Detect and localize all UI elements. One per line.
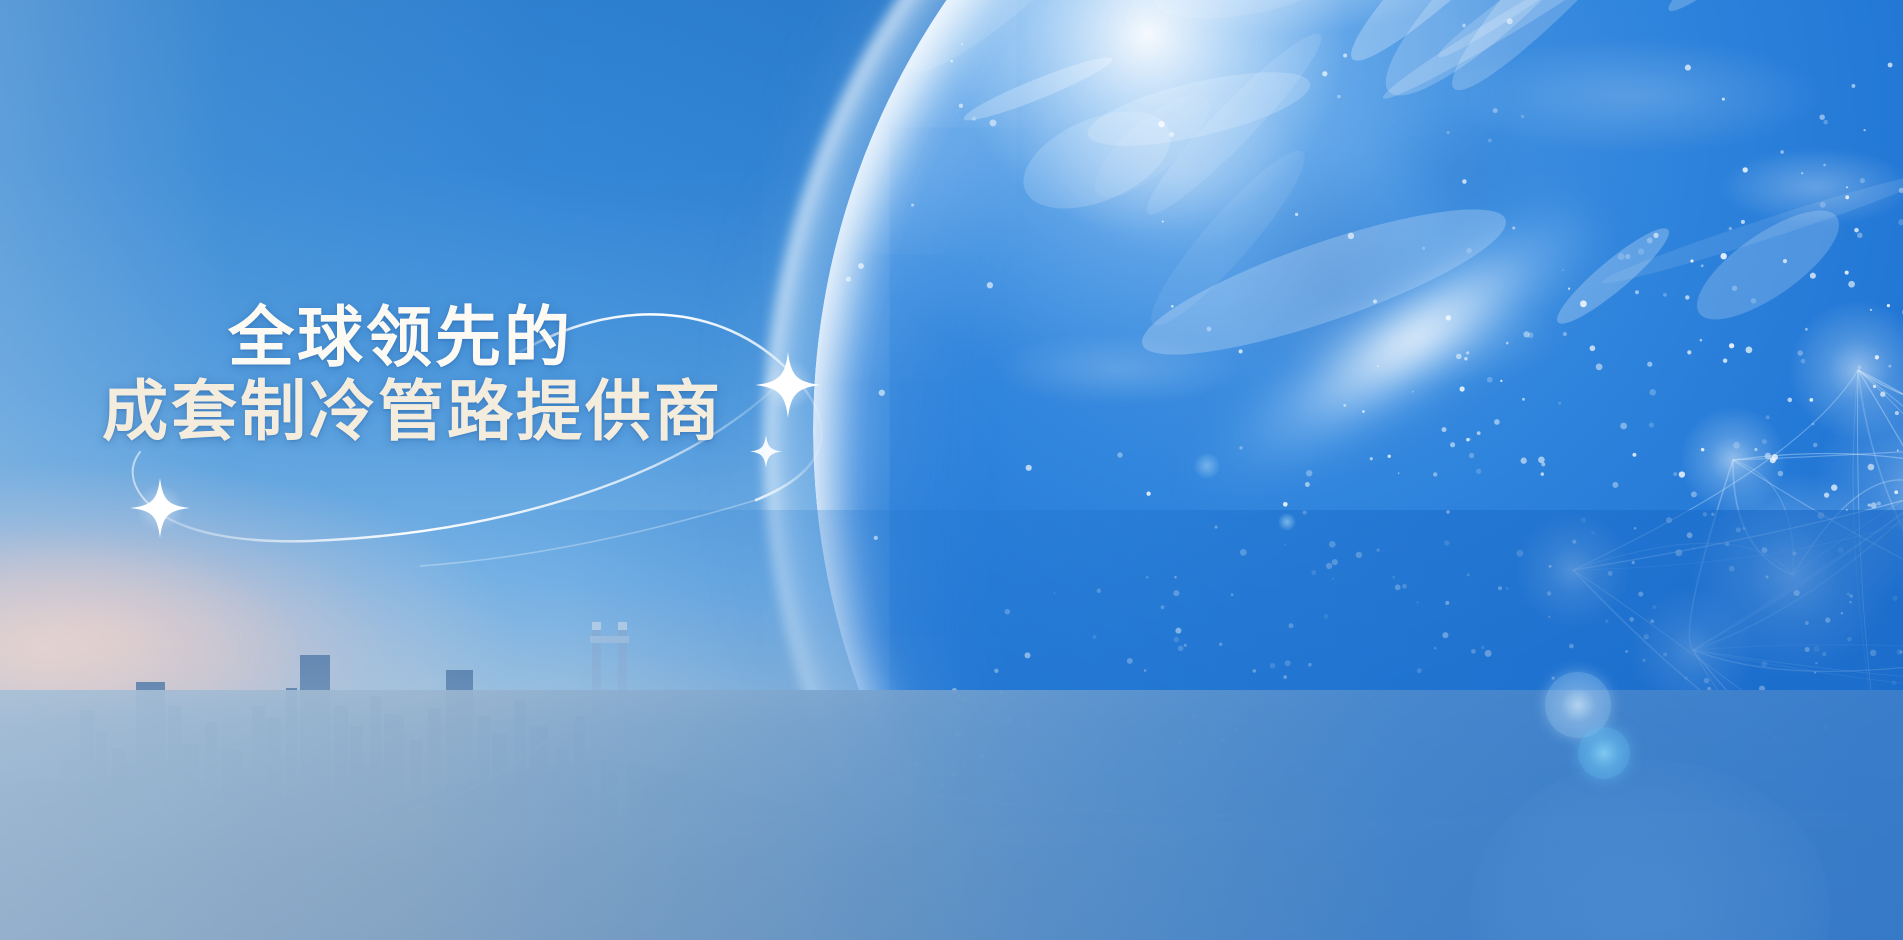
headline-block: 全球领先的 成套制冷管路提供商 [102, 300, 822, 448]
hero-banner: 全球领先的 成套制冷管路提供商 [0, 0, 1903, 940]
headline-line-2: 成套制冷管路提供商 [102, 374, 822, 448]
water-sheen [0, 690, 1903, 940]
headline-line-1: 全球领先的 [102, 300, 822, 374]
